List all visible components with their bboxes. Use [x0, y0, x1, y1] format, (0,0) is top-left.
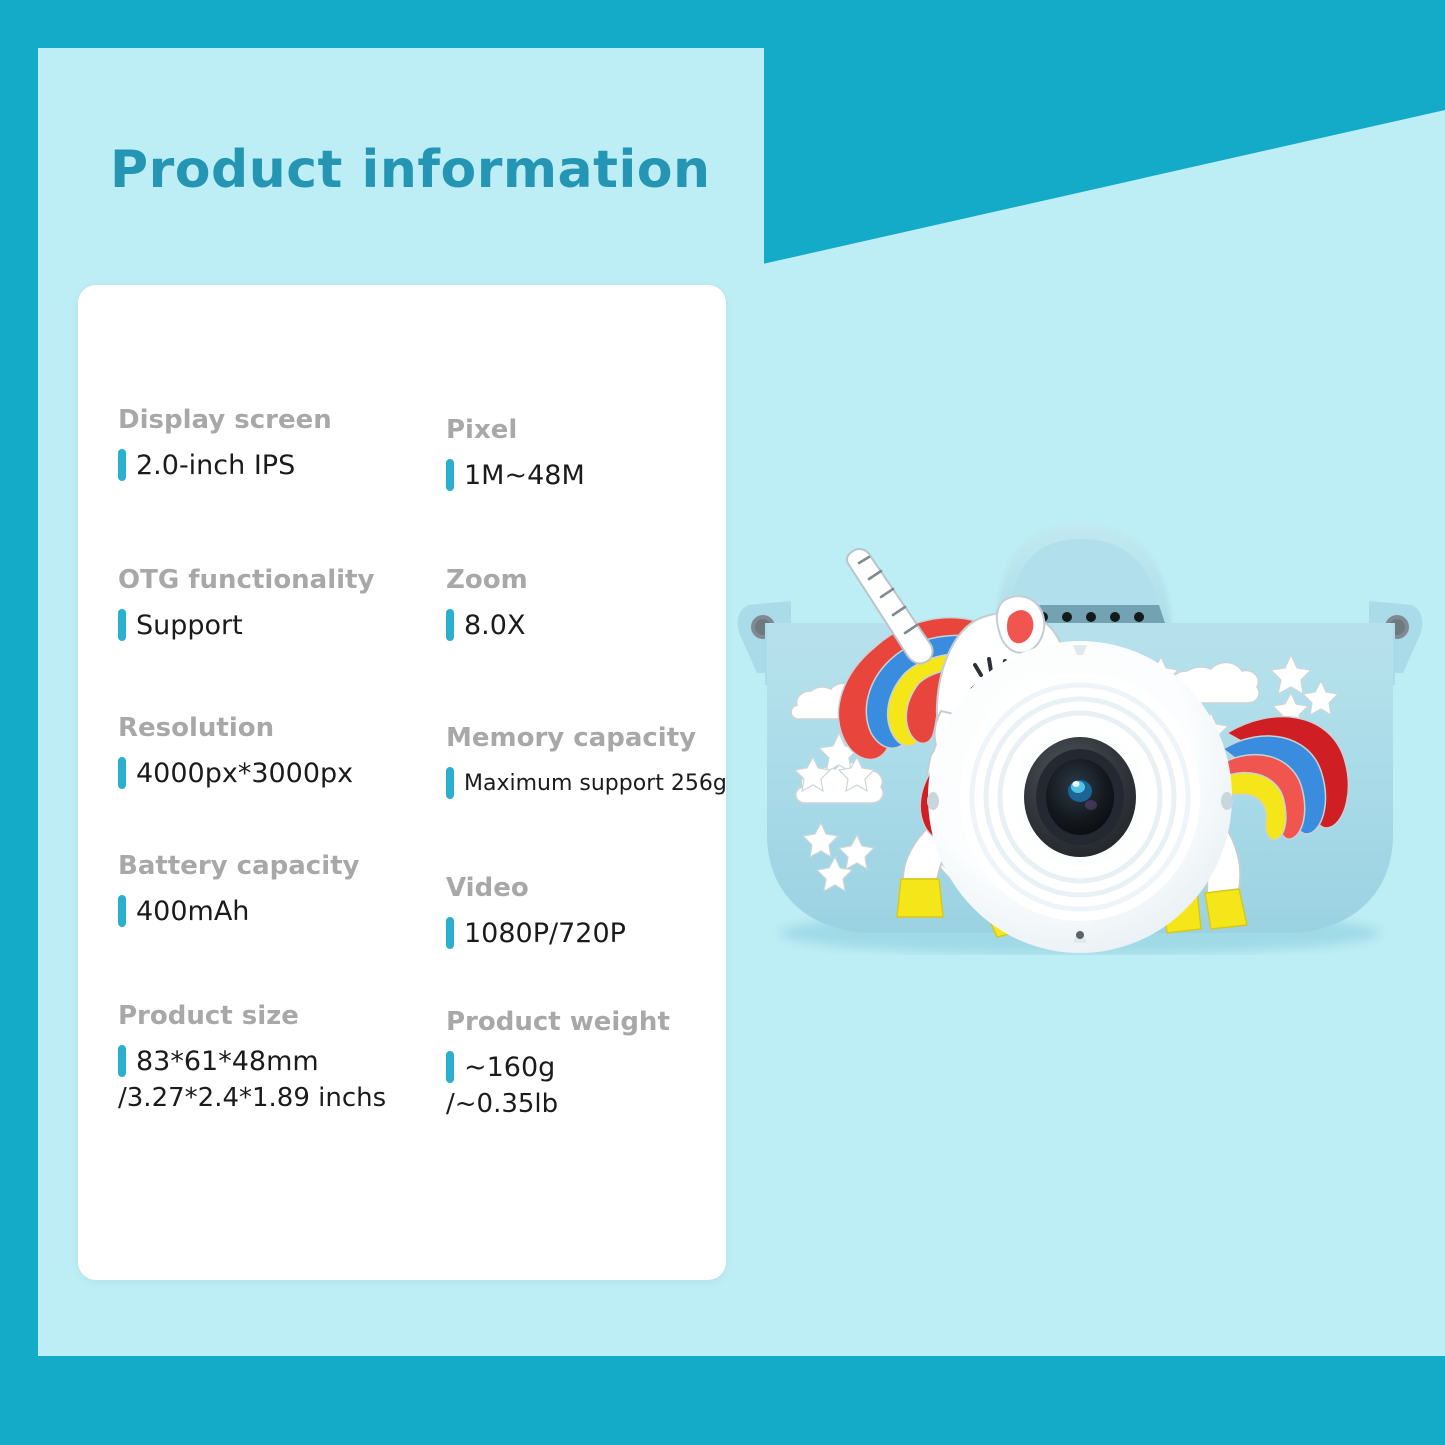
accent-bar-icon — [446, 767, 454, 799]
spec-value: 1M~48M — [446, 459, 585, 491]
spec-label: OTG functionality — [118, 565, 374, 595]
spec-item-pixel: Pixel 1M~48M — [446, 415, 585, 491]
spec-label: Product weight — [446, 1007, 670, 1037]
spec-value-text: ~160g — [464, 1052, 555, 1083]
spec-value: Support — [118, 609, 374, 641]
spec-value-text: 83*61*48mm — [136, 1046, 319, 1077]
accent-bar-icon — [446, 609, 454, 641]
spec-value-text: Maximum support 256g — [464, 771, 727, 796]
spec-value-text: 1M~48M — [464, 460, 585, 491]
spec-label: Product size — [118, 1001, 386, 1031]
spec-value: 83*61*48mm — [118, 1045, 386, 1077]
spec-label: Pixel — [446, 415, 585, 445]
spec-item-display-screen: Display screen 2.0-inch IPS — [118, 405, 332, 481]
spec-value-secondary: /3.27*2.4*1.89 inchs — [118, 1083, 386, 1113]
spec-label: Memory capacity — [446, 723, 727, 753]
accent-bar-icon — [118, 609, 126, 641]
camera-lens — [1024, 737, 1136, 857]
accent-bar-icon — [446, 917, 454, 949]
spec-item-otg-functionality: OTG functionality Support — [118, 565, 374, 641]
spec-value: 4000px*3000px — [118, 757, 353, 789]
spec-value-text: 2.0-inch IPS — [136, 450, 295, 481]
spec-value-secondary: /~0.35lb — [446, 1089, 670, 1119]
spec-value-text: 8.0X — [464, 610, 525, 641]
accent-bar-icon — [446, 1051, 454, 1083]
spec-item-memory-capacity: Memory capacity Maximum support 256g — [446, 723, 727, 799]
page-title: Product information — [110, 140, 711, 200]
spec-value: 8.0X — [446, 609, 528, 641]
accent-bar-icon — [446, 459, 454, 491]
product-spec-card: Display screen 2.0-inch IPS Pixel 1M~48M — [78, 285, 726, 1280]
spec-value-text: 1080P/720P — [464, 918, 626, 949]
spec-label: Display screen — [118, 405, 332, 435]
spec-value-text: 4000px*3000px — [136, 758, 353, 789]
spec-item-product-weight: Product weight ~160g /~0.35lb — [446, 1007, 670, 1119]
product-image-kids-unicorn-camera — [735, 505, 1425, 955]
spec-item-product-size: Product size 83*61*48mm /3.27*2.4*1.89 i… — [118, 1001, 386, 1113]
spec-value-text: 400mAh — [136, 896, 249, 927]
spec-value-text: Support — [136, 610, 243, 641]
accent-bar-icon — [118, 895, 126, 927]
spec-item-battery-capacity: Battery capacity 400mAh — [118, 851, 360, 927]
spec-value: 2.0-inch IPS — [118, 449, 332, 481]
accent-bar-icon — [118, 757, 126, 789]
product-information-page: Product information — [0, 0, 1445, 1445]
spec-item-video: Video 1080P/720P — [446, 873, 626, 949]
spec-label: Resolution — [118, 713, 353, 743]
spec-label: Video — [446, 873, 626, 903]
spec-label: Battery capacity — [118, 851, 360, 881]
spec-item-zoom: Zoom 8.0X — [446, 565, 528, 641]
spec-value: 1080P/720P — [446, 917, 626, 949]
spec-label: Zoom — [446, 565, 528, 595]
spec-value: 400mAh — [118, 895, 360, 927]
spec-value: Maximum support 256g — [446, 767, 727, 799]
spec-item-resolution: Resolution 4000px*3000px — [118, 713, 353, 789]
accent-bar-icon — [118, 1045, 126, 1077]
accent-bar-icon — [118, 449, 126, 481]
spec-value: ~160g — [446, 1051, 670, 1083]
